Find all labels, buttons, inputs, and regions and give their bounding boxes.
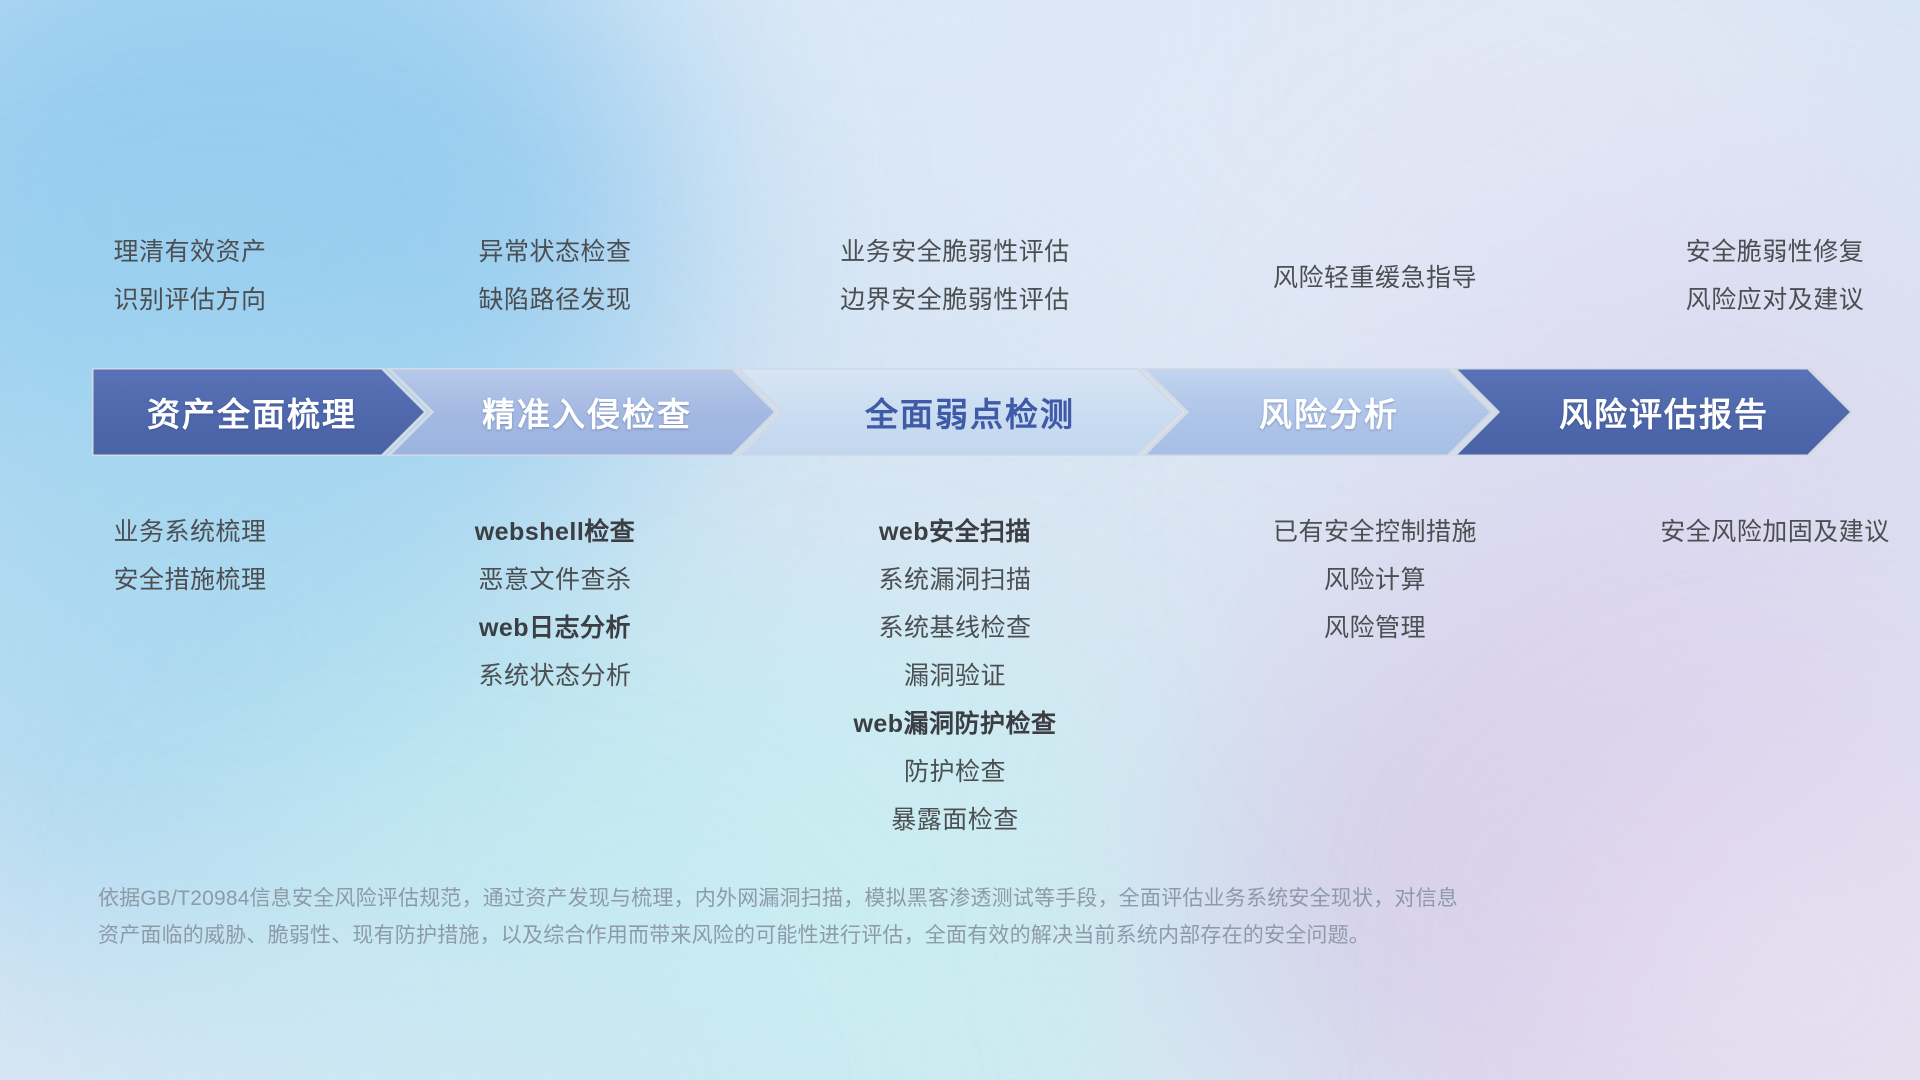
top-column-risk-analysis: 风险轻重缓急指导 [1210, 228, 1540, 318]
chevron-shapes [92, 368, 1852, 456]
bottom-item: webshell检查 [390, 508, 720, 556]
bottom-items-row: 业务系统梳理安全措施梳理 webshell检查恶意文件查杀web日志分析系统状态… [0, 508, 1920, 844]
bottom-column-report: 安全风险加固及建议 [1595, 508, 1920, 556]
top-item: 理清有效资产 [30, 228, 350, 276]
top-column-intrusion: 异常状态检查缺陷路径发现 [390, 228, 720, 318]
top-item: 边界安全脆弱性评估 [745, 276, 1165, 324]
top-column-report: 安全脆弱性修复风险应对及建议 [1595, 228, 1920, 318]
top-item: 业务安全脆弱性评估 [745, 228, 1165, 276]
bottom-item: 暴露面检查 [745, 796, 1165, 844]
footer-line-1: 依据GB/T20984信息安全风险评估规范，通过资产发现与梳理，内外网漏洞扫描，… [98, 880, 1598, 917]
top-item: 识别评估方向 [30, 276, 350, 324]
process-chevron-band: 资产全面梳理 精准入侵检查 全面弱点检测 风险分析 风险评估报告 [92, 368, 1852, 456]
bottom-item: web安全扫描 [745, 508, 1165, 556]
top-item: 缺陷路径发现 [390, 276, 720, 324]
bottom-item: 安全风险加固及建议 [1595, 508, 1920, 556]
bottom-item: 系统基线检查 [745, 604, 1165, 652]
top-item: 风险轻重缓急指导 [1210, 254, 1540, 302]
bottom-item: 风险计算 [1210, 556, 1540, 604]
bottom-column-weakness: web安全扫描系统漏洞扫描系统基线检查漏洞验证web漏洞防护检查防护检查暴露面检… [745, 508, 1165, 844]
bottom-column-intrusion: webshell检查恶意文件查杀web日志分析系统状态分析 [390, 508, 720, 700]
footer-description: 依据GB/T20984信息安全风险评估规范，通过资产发现与梳理，内外网漏洞扫描，… [98, 880, 1598, 954]
bottom-item: 风险管理 [1210, 604, 1540, 652]
top-column-weakness: 业务安全脆弱性评估边界安全脆弱性评估 [745, 228, 1165, 318]
bottom-item: 系统状态分析 [390, 652, 720, 700]
top-item: 风险应对及建议 [1595, 276, 1920, 324]
bottom-column-asset: 业务系统梳理安全措施梳理 [30, 508, 350, 604]
footer-line-2: 资产面临的威胁、脆弱性、现有防护措施，以及综合作用而带来风险的可能性进行评估，全… [98, 917, 1598, 954]
top-column-asset: 理清有效资产识别评估方向 [30, 228, 350, 318]
bottom-column-risk-analysis: 已有安全控制措施风险计算风险管理 [1210, 508, 1540, 652]
bottom-item: 业务系统梳理 [30, 508, 350, 556]
bottom-item: web漏洞防护检查 [745, 700, 1165, 748]
slide-content: 理清有效资产识别评估方向 异常状态检查缺陷路径发现 业务安全脆弱性评估边界安全脆… [0, 0, 1920, 1080]
bottom-item: 安全措施梳理 [30, 556, 350, 604]
top-descriptions-row: 理清有效资产识别评估方向 异常状态检查缺陷路径发现 业务安全脆弱性评估边界安全脆… [0, 228, 1920, 318]
bottom-item: web日志分析 [390, 604, 720, 652]
bottom-item: 漏洞验证 [745, 652, 1165, 700]
bottom-item: 恶意文件查杀 [390, 556, 720, 604]
top-item: 异常状态检查 [390, 228, 720, 276]
top-item: 安全脆弱性修复 [1595, 228, 1920, 276]
bottom-item: 已有安全控制措施 [1210, 508, 1540, 556]
bottom-item: 系统漏洞扫描 [745, 556, 1165, 604]
bottom-item: 防护检查 [745, 748, 1165, 796]
